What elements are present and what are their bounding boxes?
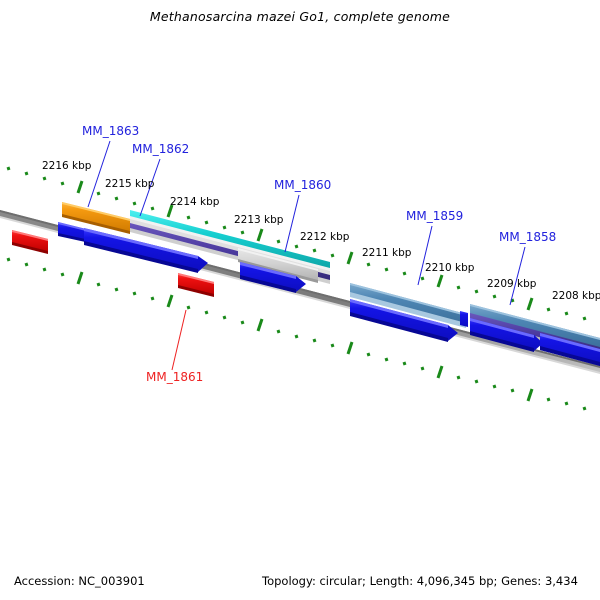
gene-label-mm-1859[interactable]: MM_1859 bbox=[406, 209, 463, 223]
genome-map-viewer: Methanosarcina mazei Go1, complete genom… bbox=[0, 0, 600, 600]
gene-feature-mm-1861[interactable] bbox=[178, 273, 214, 297]
gene-feature-blue-fragment[interactable] bbox=[460, 311, 468, 327]
accession-text: Accession: NC_003901 bbox=[14, 574, 145, 588]
leader-mm-1860 bbox=[285, 195, 299, 252]
genome-map-canvas[interactable]: 2216 kbp 2215 kbp 2214 kbp 2213 kbp 2212… bbox=[0, 0, 600, 600]
gene-label-mm-1860[interactable]: MM_1860 bbox=[274, 178, 331, 192]
tick-label: 2216 kbp bbox=[42, 160, 92, 172]
gene-label-mm-1861[interactable]: MM_1861 bbox=[146, 370, 203, 384]
leader-mm-1859 bbox=[418, 226, 432, 285]
gene-feature-red-left[interactable] bbox=[12, 230, 48, 254]
genome-stats-text: Topology: circular; Length: 4,096,345 bp… bbox=[262, 574, 578, 588]
tick-label: 2215 kbp bbox=[105, 178, 155, 190]
tick-label: 2209 kbp bbox=[487, 278, 537, 290]
leader-mm-1858 bbox=[510, 247, 525, 305]
tick-label: 2208 kbp bbox=[552, 290, 600, 302]
tick-label: 2212 kbp bbox=[300, 231, 350, 243]
leader-mm-1861 bbox=[172, 310, 186, 370]
tick-label: 2210 kbp bbox=[425, 262, 475, 274]
gene-label-mm-1858[interactable]: MM_1858 bbox=[499, 230, 556, 244]
leader-mm-1863 bbox=[88, 141, 110, 207]
tick-label: 2213 kbp bbox=[234, 214, 284, 226]
tick-label: 2214 kbp bbox=[170, 196, 220, 208]
gene-label-mm-1863[interactable]: MM_1863 bbox=[82, 124, 139, 138]
gene-label-mm-1862[interactable]: MM_1862 bbox=[132, 142, 189, 156]
tick-label: 2211 kbp bbox=[362, 247, 412, 259]
